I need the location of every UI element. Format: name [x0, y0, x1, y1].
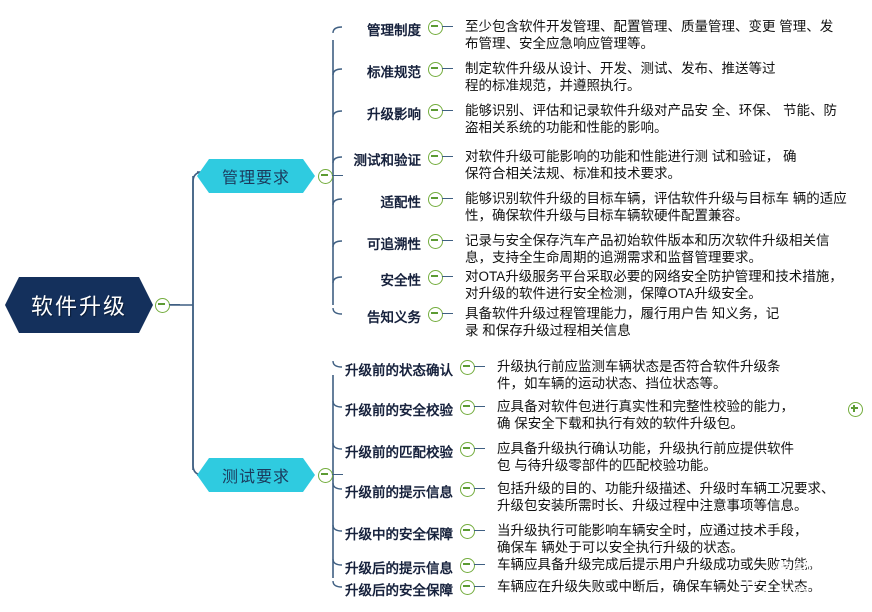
leaf-node-description: 制定软件升级从设计、开发、测试、发布、推送等过 程的标准规范，并遵照执行。 — [465, 60, 776, 94]
leaf-collapse-toggle[interactable] — [460, 400, 475, 415]
leaf-node-description: 应具备升级执行确认功能，升级执行前应提供软件 包 与待升级零部件的匹配校验功能。 — [497, 440, 794, 474]
leaf-node-description: 当升级执行可能影响车辆安全时，应通过技术手段， 确保车 辆处于可以安全执行升级的… — [497, 522, 808, 556]
leaf-node-description: 至少包含软件开发管理、配置管理、质量管理、变更 管理、发 布管理、安全应急响应管… — [465, 18, 833, 52]
leaf-collapse-toggle[interactable] — [460, 580, 475, 595]
leaf-collapse-toggle[interactable] — [428, 20, 443, 35]
leaf-node[interactable]: 测试和验证对软件升级可能影响的功能和性能进行测 试和验证， 确 保符合相关法规、… — [335, 148, 797, 182]
leaf-node[interactable]: 告知义务具备软件升级过程管理能力，履行用户告 知义务，记 录 和保存升级过程相关… — [335, 305, 779, 339]
leaf-node-description: 对OTA升级服务平台采取必要的网络安全防护管理和技术措施， 对升级的软件进行安全… — [465, 268, 843, 302]
leaf-node[interactable]: 升级中的安全保障当升级执行可能影响车辆安全时，应通过技术手段， 确保车 辆处于可… — [335, 522, 808, 556]
leaf-node-label: 升级中的安全保障 — [335, 522, 453, 543]
root-collapse-toggle[interactable] — [155, 298, 170, 313]
leaf-node[interactable]: 升级影响能够识别、评估和记录软件升级对产品安 全、环保、 节能、防 盗相关系统的… — [335, 102, 837, 136]
leaf-collapse-toggle[interactable] — [460, 524, 475, 539]
leaf-node-description: 车辆应在升级失败或中断后，确保车辆处于安全状态。 — [497, 578, 821, 595]
leaf-node-label: 管理制度 — [335, 18, 421, 39]
leaf-node-label: 安全性 — [335, 268, 421, 289]
leaf-node[interactable]: 升级前的安全校验应具备对软件包进行真实性和完整性校验的能力， 确 保安全下载和执… — [335, 398, 794, 432]
leaf-collapse-toggle[interactable] — [460, 558, 475, 573]
leaf-node[interactable]: 适配性能够识别软件升级的目标车辆，评估软件升级与目标车 辆的适应 性，确保软件升… — [335, 190, 847, 224]
leaf-node[interactable]: 管理制度至少包含软件开发管理、配置管理、质量管理、变更 管理、发 布管理、安全应… — [335, 18, 833, 52]
leaf-node-label: 升级前的状态确认 — [335, 358, 453, 379]
leaf-collapse-toggle[interactable] — [428, 62, 443, 77]
leaf-node-description: 能够识别软件升级的目标车辆，评估软件升级与目标车 辆的适应 性，确保软件升级与目… — [465, 190, 847, 224]
leaf-node[interactable]: 升级前的状态确认升级执行前应监测车辆状态是否符合软件升级条 件，如车辆的运动状态… — [335, 358, 781, 392]
leaf-node-label: 升级影响 — [335, 102, 421, 123]
leaf-node-description: 应具备对软件包进行真实性和完整性校验的能力， 确 保安全下载和执行有效的软件升级… — [497, 398, 794, 432]
branch-node-label: 测试要求 — [222, 463, 290, 487]
leaf-node-description: 记录与安全保存汽车产品初始软件版本和历次软件升级相关信 息，支持全生命周期的追溯… — [465, 232, 830, 266]
leaf-node-description: 升级执行前应监测车辆状态是否符合软件升级条 件，如车辆的运动状态、挡位状态等。 — [497, 358, 781, 392]
leaf-node-label: 可追溯性 — [335, 232, 421, 253]
leaf-node[interactable]: 标准规范制定软件升级从设计、开发、测试、发布、推送等过 程的标准规范，并遵照执行… — [335, 60, 776, 94]
leaf-node-description: 具备软件升级过程管理能力，履行用户告 知义务，记 录 和保存升级过程相关信息 — [465, 305, 779, 339]
leaf-node-label: 测试和验证 — [335, 148, 421, 169]
mindmap-canvas: 软件升级 管理要求 测试要求 管理制度至少包含软件开发管理、配置管理、质量管理、… — [0, 0, 872, 612]
leaf-node-label: 升级前的安全校验 — [335, 398, 453, 419]
leaf-collapse-toggle[interactable] — [460, 360, 475, 375]
leaf-collapse-toggle[interactable] — [428, 307, 443, 322]
leaf-node-label: 适配性 — [335, 190, 421, 211]
leaf-node[interactable]: 可追溯性记录与安全保存汽车产品初始软件版本和历次软件升级相关信 息，支持全生命周… — [335, 232, 830, 266]
plus-circle-icon[interactable] — [848, 402, 863, 417]
leaf-collapse-toggle[interactable] — [460, 442, 475, 457]
branch-node-management[interactable]: 管理要求 — [197, 159, 315, 193]
leaf-node[interactable]: 升级后的安全保障车辆应在升级失败或中断后，确保车辆处于安全状态。 — [335, 578, 821, 599]
leaf-node-label: 告知义务 — [335, 305, 421, 326]
leaf-collapse-toggle[interactable] — [428, 192, 443, 207]
leaf-collapse-toggle[interactable] — [428, 234, 443, 249]
leaf-node-label: 升级后的提示信息 — [335, 556, 453, 577]
leaf-node[interactable]: 安全性对OTA升级服务平台采取必要的网络安全防护管理和技术措施， 对升级的软件进… — [335, 268, 843, 302]
branch-node-label: 管理要求 — [222, 164, 290, 188]
leaf-node[interactable]: 升级后的提示信息车辆应具备升级完成后提示用户升级成功或失败功能。 — [335, 556, 821, 577]
leaf-node[interactable]: 升级前的匹配校验应具备升级执行确认功能，升级执行前应提供软件 包 与待升级零部件… — [335, 440, 794, 474]
leaf-collapse-toggle[interactable] — [460, 482, 475, 497]
leaf-node-label: 升级后的安全保障 — [335, 578, 453, 599]
leaf-node[interactable]: 升级前的提示信息包括升级的目的、功能升级描述、升级时车辆工况要求、 升级包安装所… — [335, 480, 835, 514]
branch-collapse-toggle-management[interactable] — [318, 169, 333, 184]
branch-collapse-toggle-testing[interactable] — [318, 468, 333, 483]
branch-node-testing[interactable]: 测试要求 — [197, 458, 315, 492]
leaf-node-description: 车辆应具备升级完成后提示用户升级成功或失败功能。 — [497, 556, 821, 573]
leaf-node-label: 升级前的匹配校验 — [335, 440, 453, 461]
root-node-label: 软件升级 — [31, 289, 127, 321]
leaf-node-description: 能够识别、评估和记录软件升级对产品安 全、环保、 节能、防 盗相关系统的功能和性… — [465, 102, 837, 136]
root-node[interactable]: 软件升级 — [5, 277, 153, 333]
leaf-node-description: 对软件升级可能影响的功能和性能进行测 试和验证， 确 保符合相关法规、标准和技术… — [465, 148, 797, 182]
leaf-collapse-toggle[interactable] — [428, 150, 443, 165]
leaf-node-label: 升级前的提示信息 — [335, 480, 453, 501]
leaf-node-label: 标准规范 — [335, 60, 421, 81]
leaf-collapse-toggle[interactable] — [428, 270, 443, 285]
leaf-collapse-toggle[interactable] — [428, 104, 443, 119]
leaf-node-description: 包括升级的目的、功能升级描述、升级时车辆工况要求、 升级包安装所需时长、升级过程… — [497, 480, 835, 514]
